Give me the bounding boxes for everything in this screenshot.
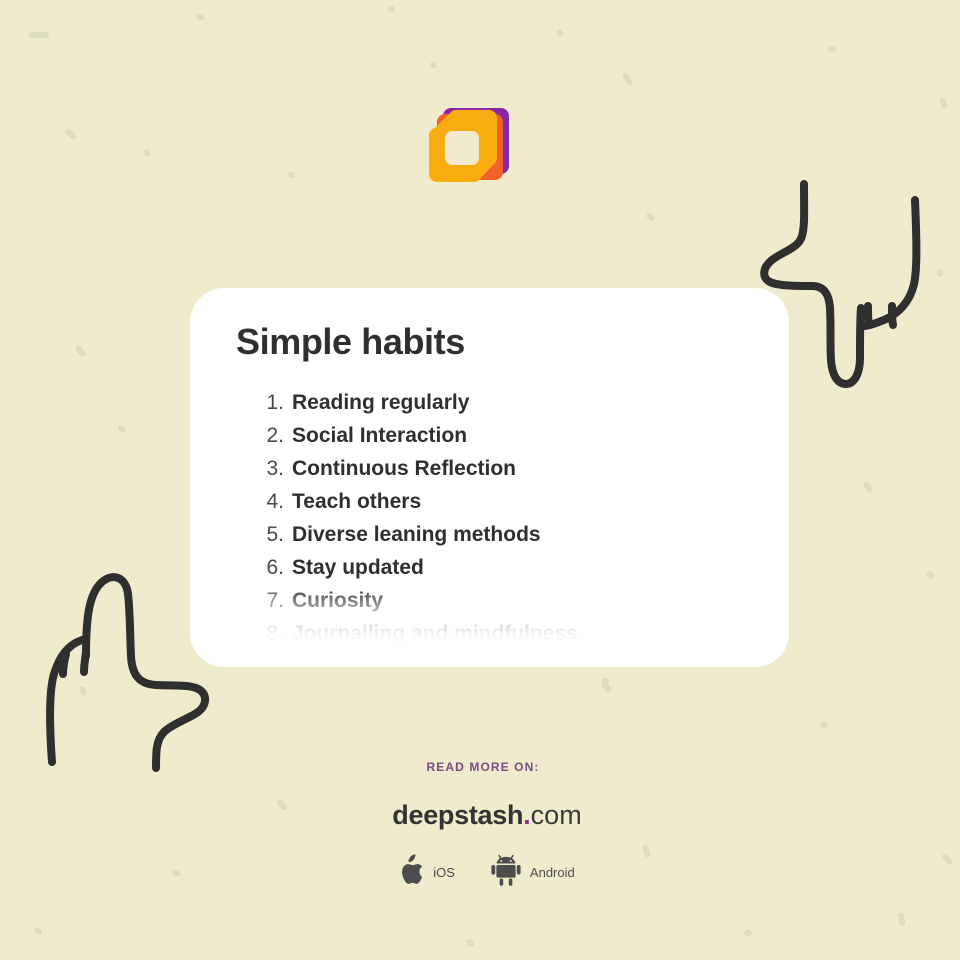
android-icon bbox=[491, 854, 521, 891]
confetti-speck bbox=[142, 148, 152, 158]
confetti-speck bbox=[429, 61, 438, 70]
list-item: 6. Stay updated bbox=[236, 551, 745, 584]
confetti-speck bbox=[622, 72, 634, 86]
android-store-badge[interactable]: Android bbox=[491, 854, 575, 891]
read-more-label: READ MORE ON: bbox=[0, 760, 960, 774]
idea-card: Simple habits 1. Reading regularly 2. So… bbox=[190, 288, 789, 667]
list-item-text: Stay updated bbox=[292, 551, 424, 584]
confetti-speck bbox=[288, 172, 295, 178]
list-item-text: Journalling and mindfulness bbox=[292, 617, 578, 650]
brand-wordmark[interactable]: deepstash.com bbox=[0, 802, 960, 829]
confetti-speck bbox=[29, 32, 49, 38]
confetti-speck bbox=[465, 938, 476, 949]
deepstash-logo bbox=[425, 100, 525, 200]
confetti-speck bbox=[388, 5, 396, 12]
confetti-speck bbox=[743, 929, 752, 937]
confetti-speck bbox=[555, 28, 564, 38]
list-item-number: 7. bbox=[254, 584, 292, 617]
confetti-speck bbox=[939, 97, 948, 109]
list-item-text: Social Interaction bbox=[292, 419, 467, 452]
confetti-speck bbox=[862, 480, 874, 493]
list-item: 1. Reading regularly bbox=[236, 386, 745, 419]
ios-store-badge[interactable]: iOS bbox=[397, 854, 455, 891]
confetti-speck bbox=[64, 127, 78, 140]
confetti-speck bbox=[117, 425, 126, 433]
confetti-speck bbox=[195, 12, 206, 22]
confetti-speck bbox=[897, 912, 906, 926]
list-item-number: 6. bbox=[254, 551, 292, 584]
brand-tld: com bbox=[531, 800, 582, 830]
list-item-number: 3. bbox=[254, 452, 292, 485]
confetti-speck bbox=[925, 570, 936, 580]
card-content: Simple habits 1. Reading regularly 2. So… bbox=[190, 288, 789, 650]
confetti-speck bbox=[827, 45, 837, 53]
list-item-number: 5. bbox=[254, 518, 292, 551]
list-item-number: 8. bbox=[254, 617, 292, 650]
ios-label: iOS bbox=[433, 865, 455, 880]
list-item-text: Diverse leaning methods bbox=[292, 518, 541, 551]
list-item-text: Reading regularly bbox=[292, 386, 469, 419]
brand-name: deepstash bbox=[392, 800, 523, 830]
android-label: Android bbox=[530, 865, 575, 880]
list-item-text: Curiosity bbox=[292, 584, 383, 617]
list-item: 3. Continuous Reflection bbox=[236, 452, 745, 485]
list-item-number: 4. bbox=[254, 485, 292, 518]
list-item: 2. Social Interaction bbox=[236, 419, 745, 452]
confetti-speck bbox=[600, 680, 613, 694]
confetti-speck bbox=[33, 927, 42, 935]
confetti-speck bbox=[74, 344, 87, 358]
list-item: 5. Diverse leaning methods bbox=[236, 518, 745, 551]
confetti-speck bbox=[819, 720, 829, 730]
habit-list: 1. Reading regularly 2. Social Interacti… bbox=[236, 386, 745, 650]
list-item-text: Teach others bbox=[292, 485, 421, 518]
store-badges: iOS Android bbox=[0, 854, 960, 891]
brand-dot: . bbox=[523, 800, 531, 830]
list-item: 4. Teach others bbox=[236, 485, 745, 518]
poster-canvas: Simple habits 1. Reading regularly 2. So… bbox=[0, 0, 960, 960]
apple-icon bbox=[397, 854, 424, 891]
list-item-number: 1. bbox=[254, 386, 292, 419]
confetti-speck bbox=[645, 212, 655, 223]
list-item-text: Continuous Reflection bbox=[292, 452, 516, 485]
list-item: 8. Journalling and mindfulness bbox=[236, 617, 745, 650]
card-title: Simple habits bbox=[236, 322, 745, 362]
list-item-number: 2. bbox=[254, 419, 292, 452]
confetti-speck bbox=[601, 676, 610, 685]
list-item: 7. Curiosity bbox=[236, 584, 745, 617]
footer: READ MORE ON: deepstash.com iOS bbox=[0, 760, 960, 891]
